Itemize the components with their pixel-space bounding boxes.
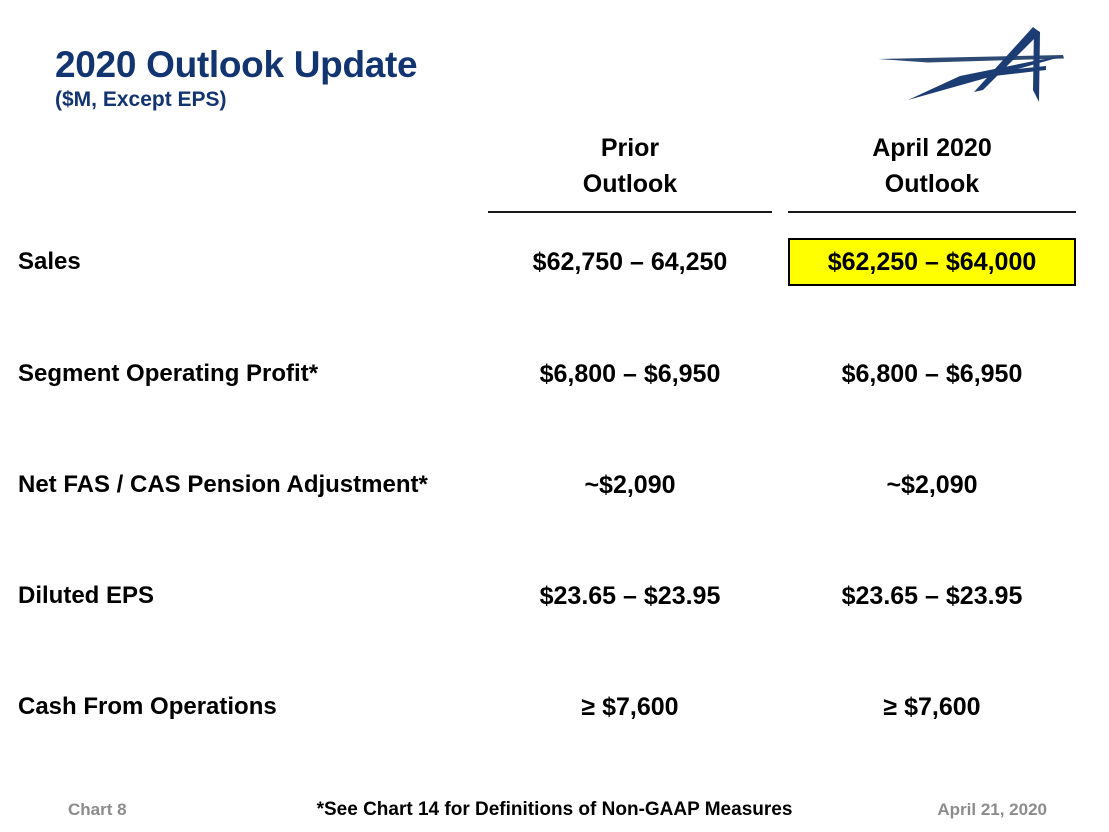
- table-row: Segment Operating Profit* $6,800 – $6,95…: [0, 351, 1109, 397]
- row-value-sales-prior: $62,750 – 64,250: [488, 239, 772, 285]
- column-header-april-2020-outlook-line2: Outlook: [788, 167, 1076, 203]
- column-header-april-2020-outlook-line1: April 2020: [788, 131, 1076, 167]
- row-value-net-fas-cas-pension-adjustment-prior: ~$2,090: [488, 462, 772, 508]
- column-header-prior-outlook: Prior Outlook: [488, 131, 772, 202]
- outlook-table: Prior Outlook April 2020 Outlook Sales $…: [0, 0, 1109, 832]
- row-value-cash-from-operations-prior: ≥ $7,600: [488, 684, 772, 730]
- column-header-april-2020-outlook: April 2020 Outlook: [788, 131, 1076, 202]
- slide-canvas: 2020 Outlook Update ($M, Except EPS) Pri…: [0, 0, 1109, 832]
- column-rule-april: [788, 211, 1076, 213]
- row-label-diluted-eps: Diluted EPS: [18, 573, 478, 619]
- row-label-sales: Sales: [18, 239, 478, 285]
- row-value-segment-operating-profit-prior: $6,800 – $6,950: [488, 351, 772, 397]
- column-header-prior-outlook-line1: Prior: [488, 131, 772, 167]
- row-label-cash-from-operations: Cash From Operations: [18, 684, 478, 730]
- column-rule-prior: [488, 211, 772, 213]
- row-value-diluted-eps-prior: $23.65 – $23.95: [488, 573, 772, 619]
- column-header-prior-outlook-line2: Outlook: [488, 167, 772, 203]
- table-row: Net FAS / CAS Pension Adjustment* ~$2,09…: [0, 462, 1109, 508]
- row-label-segment-operating-profit: Segment Operating Profit*: [18, 351, 478, 397]
- slide-date: April 21, 2020: [937, 800, 1047, 820]
- table-row: Diluted EPS $23.65 – $23.95 $23.65 – $23…: [0, 573, 1109, 619]
- row-value-diluted-eps-april: $23.65 – $23.95: [788, 573, 1076, 619]
- table-row: Sales $62,750 – 64,250 $62,250 – $64,000: [0, 239, 1109, 285]
- row-label-net-fas-cas-pension-adjustment: Net FAS / CAS Pension Adjustment*: [18, 462, 478, 508]
- row-value-cash-from-operations-april: ≥ $7,600: [788, 684, 1076, 730]
- row-value-net-fas-cas-pension-adjustment-april: ~$2,090: [788, 462, 1076, 508]
- table-row: Cash From Operations ≥ $7,600 ≥ $7,600: [0, 684, 1109, 730]
- row-value-segment-operating-profit-april: $6,800 – $6,950: [788, 351, 1076, 397]
- row-value-sales-april-highlighted: $62,250 – $64,000: [788, 238, 1076, 286]
